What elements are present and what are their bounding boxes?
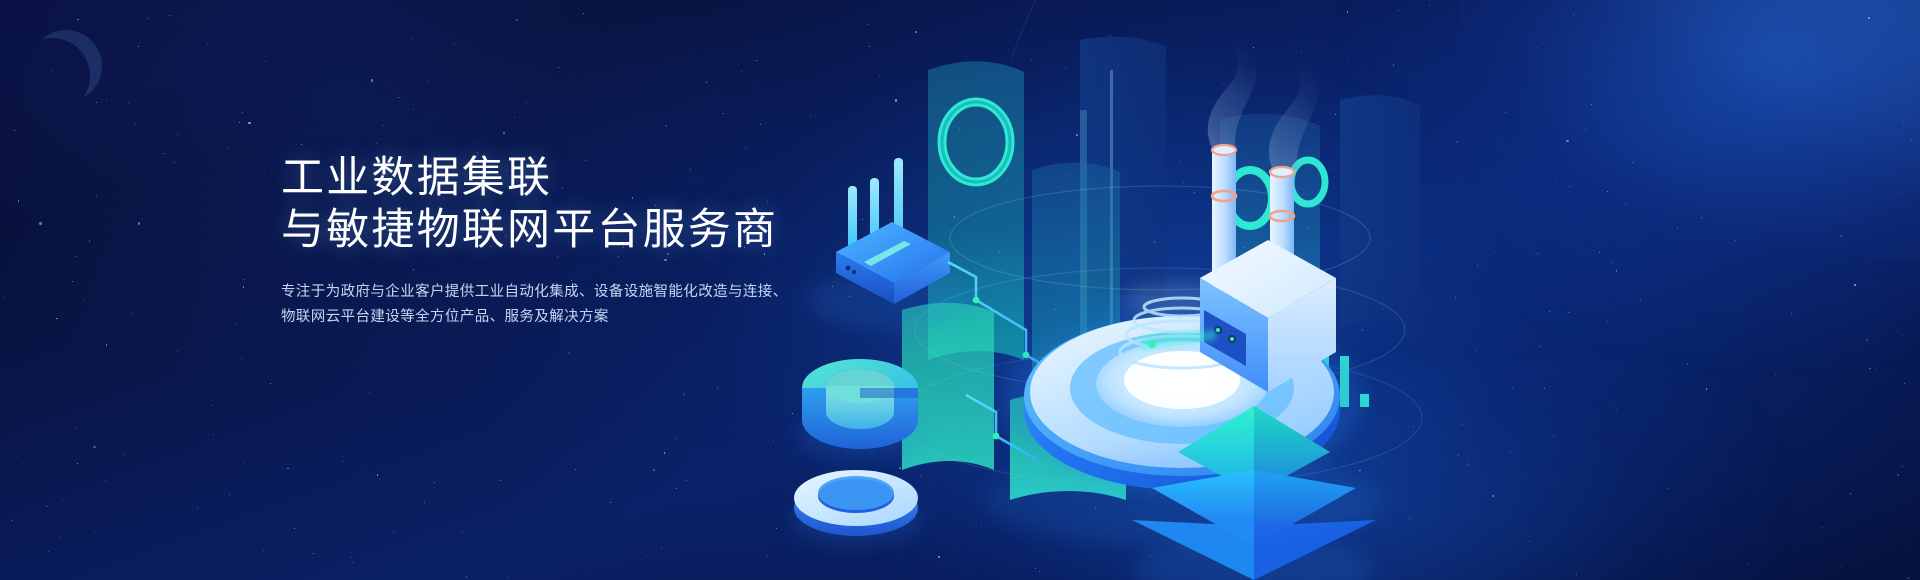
isometric-illustration	[780, 0, 1920, 580]
ring-pedestal	[790, 470, 922, 546]
crescent-moon-icon	[30, 30, 102, 102]
cylinder-gauge	[798, 359, 922, 459]
hero-banner: 工业数据集联 与敏捷物联网平台服务商 专注于为政府与企业客户提供工业自动化集成、…	[0, 0, 1920, 580]
